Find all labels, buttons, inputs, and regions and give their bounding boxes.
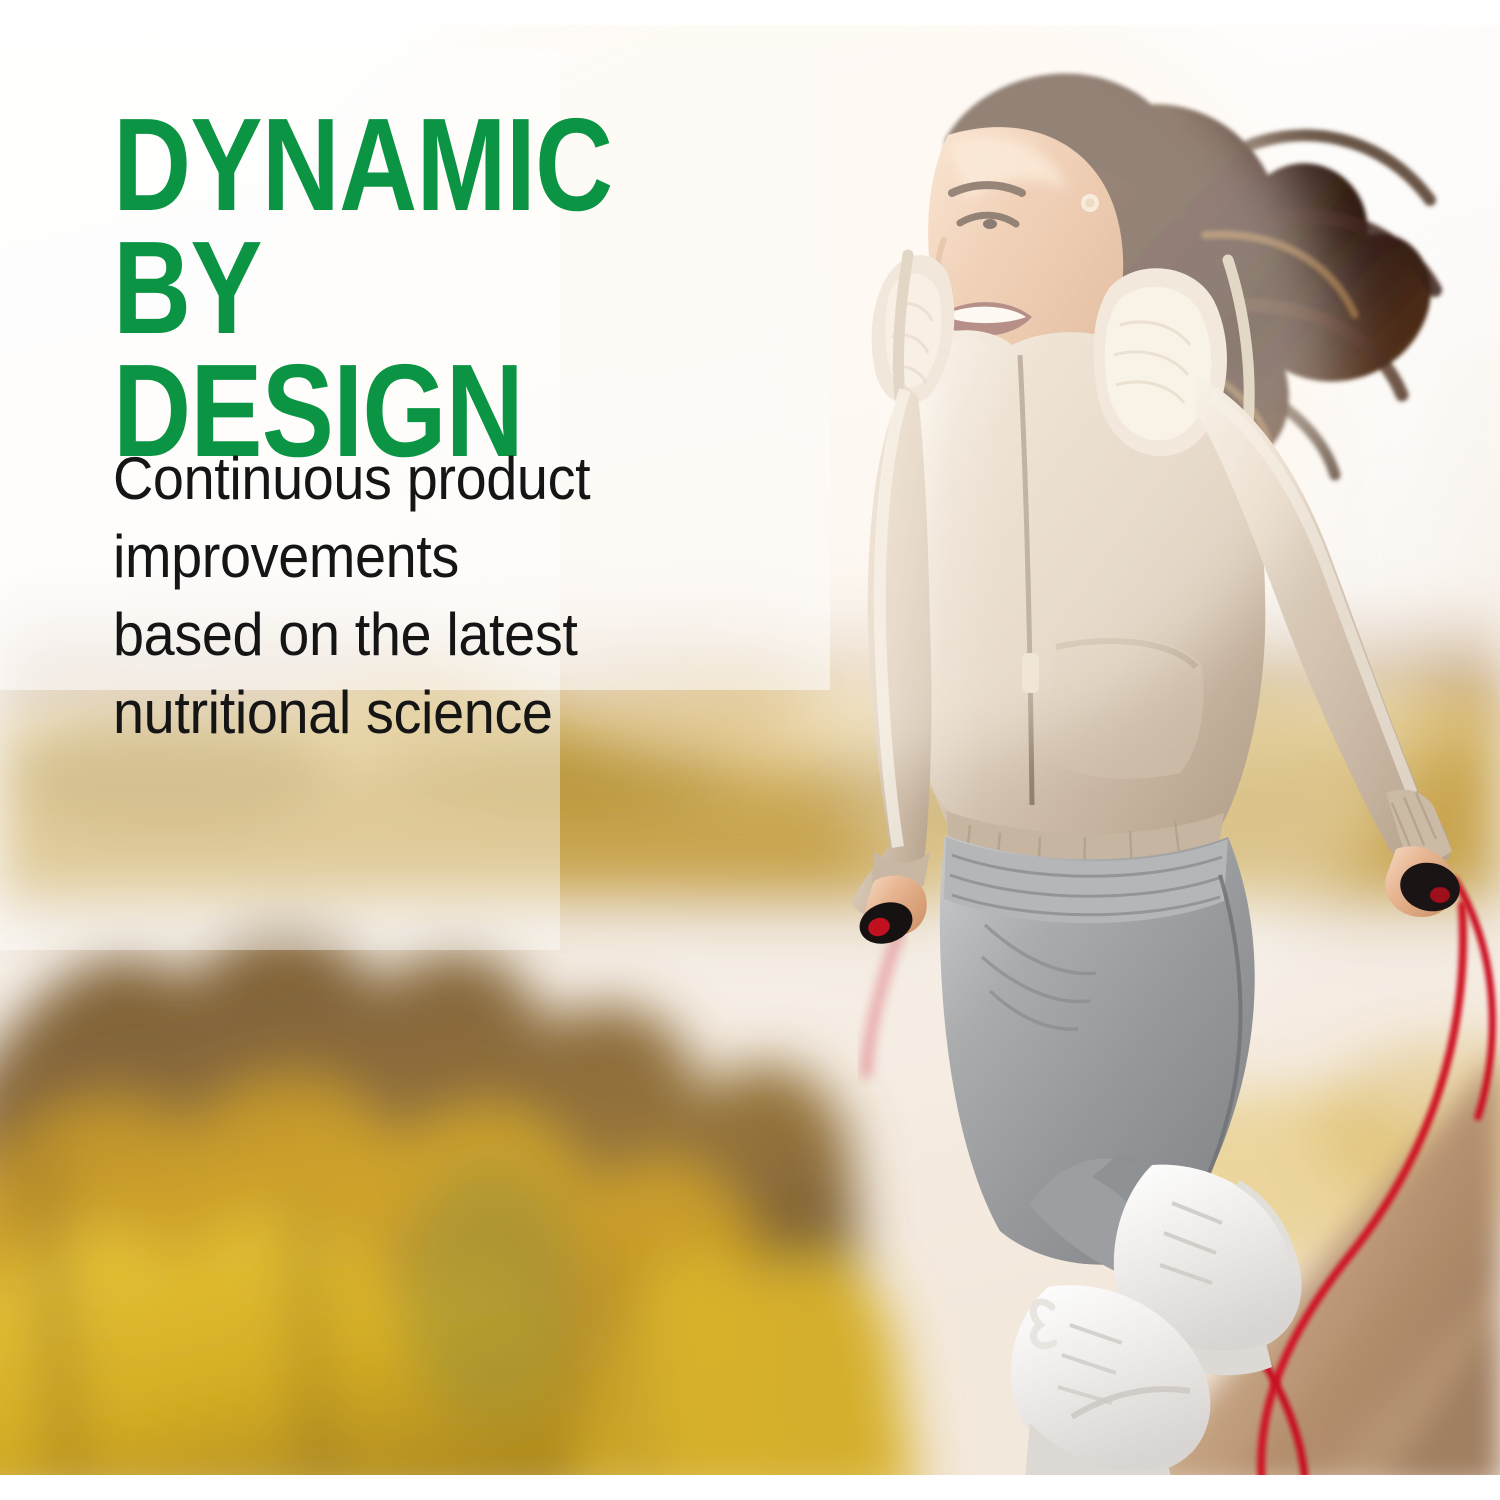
bottom-white-band [0,1475,1500,1500]
page-subcopy: Continuous product improvements based on… [113,440,745,752]
rope-handle-right-cap [1430,887,1450,903]
hoodie-pocket [1052,638,1204,779]
page-headline: DYNAMIC BY DESIGN [113,104,654,472]
zipper-pull [1022,653,1039,693]
top-white-band [0,0,1500,25]
poster-canvas: DYNAMIC BY DESIGN Continuous product imp… [0,0,1500,1500]
